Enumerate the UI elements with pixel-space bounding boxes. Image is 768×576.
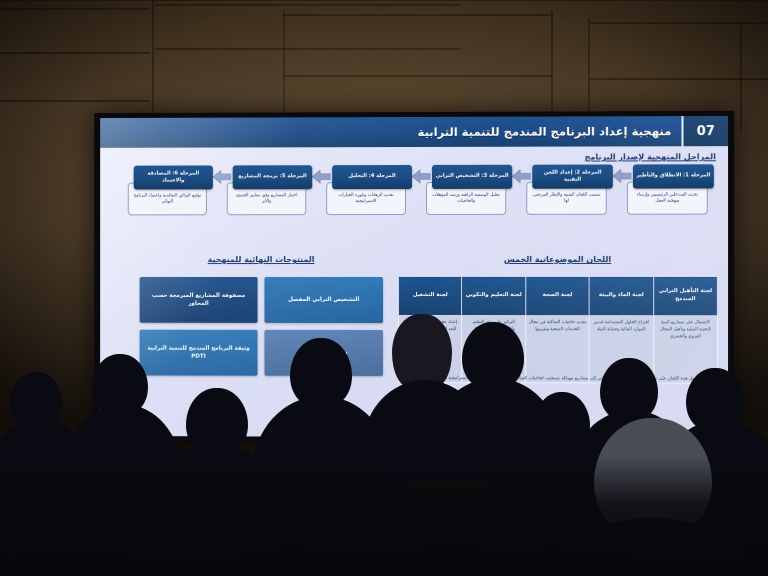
flow-stage-3: المرحلة 3: التشخيص الترابيتحليل الوضعية …: [432, 165, 512, 189]
committee-cell-5: إعداد مخططات المشاريع ذات البعد الاقتصاد…: [399, 315, 462, 382]
outputs-section-title: المنتوجات النهائية للمنهجية: [140, 255, 383, 264]
screenshot-scene: منهجية إعداد البرنامج المندمج للتنمية ال…: [0, 0, 768, 576]
slide-footnote: تعمل هذه اللجان على تنزيل مخرجات التشخيص…: [398, 375, 718, 383]
flow-stage-head: المرحلة 4: التحليل: [332, 165, 412, 189]
flow-stage-5: المرحلة 5: برمجة المشاريعاختيار المشاريع…: [233, 165, 313, 189]
flow-stage-head: المرحلة 3: التشخيص الترابي: [432, 165, 512, 189]
outputs-section: المنتوجات النهائية للمنهجية مصفوفة المشا…: [140, 255, 383, 376]
committee-header-4: لجنة التعليم والتكوين: [462, 276, 526, 315]
output-card-2: التشخيص الترابي المفصل: [264, 277, 383, 323]
flow-stage-head: المرحلة 5: برمجة المشاريع: [233, 165, 313, 189]
committee-cell-2: اقتراح الحلول المستدامة لتدبير الموارد ا…: [589, 316, 653, 383]
output-card-4: بطاقات المشاريع: [264, 330, 383, 376]
flow-stage-1: المرحلة 1: الانطلاق والتأطيرتحديد المتدخ…: [633, 164, 714, 188]
slide-number-badge: 07: [681, 116, 728, 146]
table-row: الاشتغال على مشاريع البنية التحتية الصلب…: [399, 315, 718, 383]
committees-table: لجنة التأهيل الترابي المندمجلجنة الماء و…: [398, 276, 718, 384]
flow-stage-head: المرحلة 1: الانطلاق والتأطير: [633, 164, 714, 188]
flow-section-title: المراحل المنهجية لإصدار البرنامج: [585, 152, 716, 161]
output-card-3: وثيقة البرنامج المندمج للتنمية الترابية …: [140, 330, 258, 376]
table-header-row: لجنة التأهيل الترابي المندمجلجنة الماء و…: [399, 276, 718, 315]
committee-cell-4: التركيز على دعم التعليم والتكوين الأولي …: [462, 316, 526, 383]
committee-header-5: لجنة التشغيل: [399, 276, 462, 315]
committees-section-title: اللجان الموضوعاتية الخمس: [398, 255, 718, 264]
committee-header-2: لجنة الماء والبيئة: [589, 276, 653, 315]
committee-header-3: لجنة الصحة: [526, 276, 590, 315]
slide-header-bar: منهجية إعداد البرنامج المندمج للتنمية ال…: [100, 116, 681, 148]
flow-stage-head: المرحلة 2: إعداد اللجن التقنية: [532, 165, 613, 189]
output-card-1: مصفوفة المشاريع المبرمجة حسب المحاور: [140, 277, 258, 323]
committee-cell-3: تحديد حاجيات الساكنة في مجال الخدمات الص…: [526, 316, 590, 383]
flow-stage-4: المرحلة 4: التحليلتحديد الرهانات وبلورة …: [332, 165, 412, 189]
flow-stage-6: المرحلة 6: المصادقة والاعتمادتوقيع الوثا…: [134, 165, 213, 189]
committees-section: اللجان الموضوعاتية الخمس لجنة التأهيل ال…: [398, 255, 718, 384]
flow-stage-head: المرحلة 6: المصادقة والاعتماد: [134, 165, 213, 189]
slide-canvas: منهجية إعداد البرنامج المندمج للتنمية ال…: [100, 116, 728, 438]
committee-cell-1: الاشتغال على مشاريع البنية التحتية الصلب…: [653, 316, 717, 383]
committee-header-1: لجنة التأهيل الترابي المندمج: [653, 276, 717, 315]
flow-stage-2: المرحلة 2: إعداد اللجن التقنيةتنصيب اللج…: [532, 165, 613, 189]
page-title: منهجية إعداد البرنامج المندمج للتنمية ال…: [418, 124, 672, 139]
presentation-screen: منهجية إعداد البرنامج المندمج للتنمية ال…: [94, 111, 734, 443]
outputs-card-grid: مصفوفة المشاريع المبرمجة حسب المحاورالتش…: [140, 277, 383, 376]
phase-flow-diagram: المرحلة 1: الانطلاق والتأطيرتحديد المتدخ…: [114, 164, 714, 237]
slide-header: منهجية إعداد البرنامج المندمج للتنمية ال…: [100, 116, 728, 148]
